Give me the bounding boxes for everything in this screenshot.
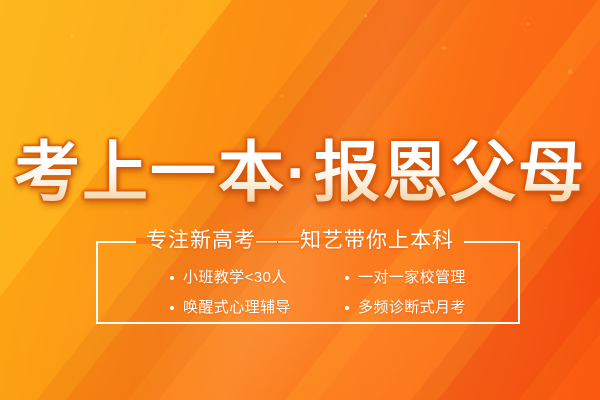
feature-label: 小班教学<30人 (183, 269, 287, 287)
feature-label: 一对一家校管理 (358, 269, 466, 287)
bullet-dot-icon (345, 276, 349, 280)
headline: 考上一本·报恩父母 (0, 136, 600, 208)
feature-item: 多频诊断式月考 (345, 299, 520, 317)
feature-item: 一对一家校管理 (345, 269, 520, 287)
headline-left: 考上一本 (14, 135, 286, 209)
feature-label: 唤醒式心理辅导 (183, 299, 291, 317)
feature-item: 唤醒式心理辅导 (170, 299, 345, 317)
subtitle-text: 专注新高考——知艺带你上本科 (136, 229, 464, 253)
bullet-dot-icon (345, 306, 349, 310)
promo-banner: 考上一本·报恩父母 专注新高考——知艺带你上本科 小班教学<30人 一对一家校管… (0, 0, 600, 400)
subtitle: 专注新高考——知艺带你上本科 (0, 229, 600, 253)
feature-label: 多频诊断式月考 (358, 299, 466, 317)
bullet-dot-icon (170, 276, 174, 280)
feature-list: 小班教学<30人 一对一家校管理 唤醒式心理辅导 多频诊断式月考 (96, 263, 520, 323)
feature-item: 小班教学<30人 (170, 269, 345, 287)
headline-separator-dot: · (286, 135, 314, 209)
headline-right: 报恩父母 (314, 135, 586, 209)
bullet-dot-icon (170, 306, 174, 310)
